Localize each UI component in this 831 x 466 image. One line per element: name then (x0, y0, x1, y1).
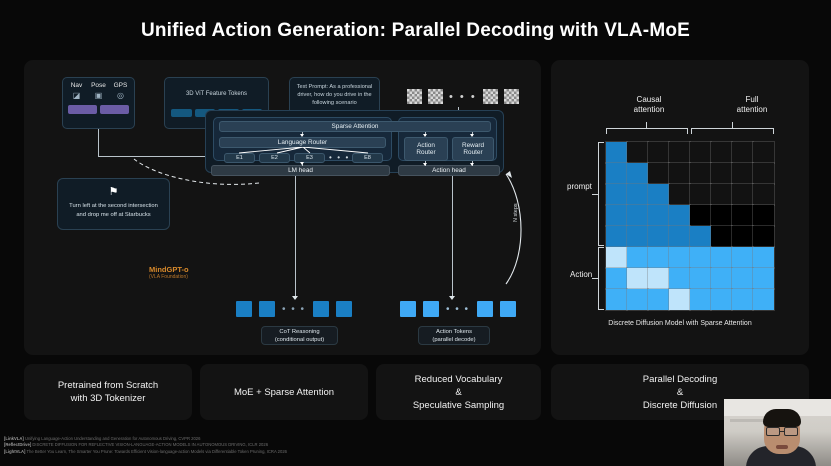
attention-cell-r2-c6 (711, 163, 732, 184)
footer-1-line2: with 3D Tokenizer (58, 392, 158, 405)
attention-cell-r1-c8 (753, 142, 774, 163)
footer-1-line1: Pretrained from Scratch (58, 379, 158, 392)
action-token-row: • • • (400, 301, 516, 317)
prompt-brace-tick (592, 194, 598, 195)
attention-cell-r1-c4 (669, 142, 690, 163)
text-prompt-caption: Text Prompt: As a professional driver, h… (290, 78, 379, 107)
causal-attention-label: Causal attention (604, 95, 694, 115)
attention-cell-r7-c8 (753, 268, 774, 289)
attention-cell-r8-c1 (606, 289, 627, 310)
attention-cell-r6-c6 (711, 247, 732, 268)
cot-subtitle: (conditional output) (275, 336, 324, 344)
full-line1: Full (716, 95, 788, 105)
page-title: Unified Action Generation: Parallel Deco… (0, 20, 831, 42)
attention-cell-r3-c6 (711, 184, 732, 205)
arrow-head (470, 134, 474, 137)
attention-cell-r8-c5 (690, 289, 711, 310)
citation-tag: [LightVLA] (4, 449, 25, 454)
attention-cell-r6-c4 (669, 247, 690, 268)
causal-brace-tick (646, 122, 647, 128)
attention-cell-r5-c1 (606, 226, 627, 247)
footer-card-3: Reduced Vocabulary & Speculative Samplin… (376, 364, 541, 420)
attention-cell-r2-c7 (732, 163, 753, 184)
citation-list: [LinkVLA] Unifying Language-Action Under… (4, 436, 287, 455)
attention-cell-r4-c7 (732, 205, 753, 226)
attention-cell-r2-c1 (606, 163, 627, 184)
attention-cell-r3-c8 (753, 184, 774, 205)
connector-acthead-out (452, 176, 453, 298)
arrow-head (470, 163, 474, 166)
n-steps-label: N steps (513, 203, 519, 222)
attention-cell-r6-c3 (648, 247, 669, 268)
gps-icon: ◎ (110, 90, 131, 102)
attention-cell-r5-c6 (711, 226, 732, 247)
citation-item: [LightVLA] The Better You Learn, The Sma… (4, 449, 287, 455)
mask-token-square (483, 89, 498, 104)
causal-brace (606, 128, 688, 134)
action-token (423, 301, 439, 317)
mask-token-square (428, 89, 443, 104)
attention-cell-r8-c3 (648, 289, 669, 310)
nav-grid: Nav Pose GPS ◪ ▣ ◎ (63, 78, 134, 102)
attention-cell-r1-c3 (648, 142, 669, 163)
nav-label: Nav (66, 82, 87, 89)
action-row-label: Action (570, 270, 592, 279)
action-router-box: Action Router (404, 137, 448, 161)
attention-cell-r8-c2 (627, 289, 648, 310)
action-ellipsis: • • • (446, 304, 470, 315)
citation-text: The Better You Learn, The Smarter You Pr… (27, 449, 287, 454)
mask-token-ellipsis: • • • (449, 91, 477, 103)
attention-cell-r1-c6 (711, 142, 732, 163)
arrow-head (423, 163, 427, 166)
attention-cell-r5-c2 (627, 226, 648, 247)
n-steps-loop-arrow (500, 168, 530, 290)
nav-token-bars (63, 102, 134, 114)
citation-text: DISCRETE DIFFUSION FOR REFLECTIVE VISION… (32, 442, 268, 447)
attention-cell-r7-c7 (732, 268, 753, 289)
action-brace (598, 247, 604, 310)
cot-token (259, 301, 275, 317)
causal-line1: Causal (604, 95, 694, 105)
footer-3-line1: Reduced Vocabulary (413, 373, 504, 386)
attention-cell-r3-c3 (648, 184, 669, 205)
attention-cell-r6-c7 (732, 247, 753, 268)
action-tokens-label: Action Tokens (parallel decode) (418, 326, 490, 345)
cot-token (236, 301, 252, 317)
attention-cell-r6-c2 (627, 247, 648, 268)
attention-cell-r5-c8 (753, 226, 774, 247)
footer-4-line2: & (643, 386, 717, 399)
route-flag-icon: ⚑ (58, 179, 169, 201)
nav-arrow-icon: ◪ (66, 90, 87, 102)
mindgpt-label: MindGPT-o (VLA Foundation) (149, 265, 189, 280)
gps-label: GPS (110, 82, 131, 89)
attention-cell-r7-c1 (606, 268, 627, 289)
full-attention-label: Full attention (716, 95, 788, 115)
attention-cell-r1-c5 (690, 142, 711, 163)
footer-2-line1: MoE + Sparse Attention (234, 386, 334, 399)
arrow-head (292, 296, 298, 300)
presenter-glasses-right (784, 427, 798, 436)
attention-cell-r3-c1 (606, 184, 627, 205)
action-token (400, 301, 416, 317)
lm-head-bar: LM head (211, 165, 390, 176)
attention-cell-r8-c7 (732, 289, 753, 310)
presenter-glasses-left (766, 427, 780, 436)
attention-cell-r2-c5 (690, 163, 711, 184)
action-router-line2: Router (416, 149, 435, 157)
attention-cell-r3-c4 (669, 184, 690, 205)
attention-cell-r5-c7 (732, 226, 753, 247)
arrow-head (449, 296, 455, 300)
cot-reasoning-label: CoT Reasoning (conditional output) (261, 326, 338, 345)
full-line2: attention (716, 105, 788, 115)
vit-caption: 3D ViT Feature Tokens (165, 78, 268, 97)
action-head-bar: Action head (398, 165, 500, 176)
attention-cell-r4-c2 (627, 205, 648, 226)
footer-card-1: Pretrained from Scratch with 3D Tokenize… (24, 364, 192, 420)
reward-router-line1: Reward (462, 142, 484, 150)
action-token (500, 301, 516, 317)
presenter-webcam[interactable] (724, 399, 831, 466)
instruction-callout: ⚑ Turn left at the second intersection a… (57, 178, 170, 230)
attention-cell-r4-c3 (648, 205, 669, 226)
mask-token-square (504, 89, 519, 104)
attention-cell-r2-c8 (753, 163, 774, 184)
arrow-head (300, 134, 304, 137)
attention-cell-r5-c5 (690, 226, 711, 247)
presenter-hair (763, 409, 801, 427)
citation-text: Unifying Language-Action Understanding a… (25, 436, 201, 441)
attention-cell-r2-c3 (648, 163, 669, 184)
reward-router-line2: Router (463, 149, 482, 157)
action-title: Action Tokens (436, 328, 472, 336)
action-token (477, 301, 493, 317)
attention-cell-r5-c4 (669, 226, 690, 247)
attention-cell-r5-c3 (648, 226, 669, 247)
attention-cell-r7-c4 (669, 268, 690, 289)
attention-cell-r4-c5 (690, 205, 711, 226)
citation-tag: [LinkVLA] (4, 436, 24, 441)
attention-cell-r1-c1 (606, 142, 627, 163)
full-brace (691, 128, 774, 134)
attention-cell-r8-c8 (753, 289, 774, 310)
nav-pose-gps-card: Nav Pose GPS ◪ ▣ ◎ (62, 77, 135, 129)
attention-cell-r6-c5 (690, 247, 711, 268)
footer-4-line1: Parallel Decoding (643, 373, 717, 386)
pose-label: Pose (88, 82, 109, 89)
attention-cell-r3-c2 (627, 184, 648, 205)
footer-3-line2: & (413, 386, 504, 399)
instruction-text: Turn left at the second intersection and… (58, 201, 169, 219)
attention-cell-r3-c7 (732, 184, 753, 205)
cot-ellipsis: • • • (282, 304, 306, 315)
mask-token-row: • • • (407, 89, 519, 104)
cot-token-row: • • • (236, 301, 352, 317)
attention-cell-r1-c7 (732, 142, 753, 163)
pose-icon: ▣ (88, 90, 109, 102)
prompt-row-label: prompt (567, 182, 592, 191)
attention-cell-r2-c2 (627, 163, 648, 184)
attention-cell-r8-c6 (711, 289, 732, 310)
footer-3-line3: Speculative Sampling (413, 399, 504, 412)
attention-cell-r7-c2 (627, 268, 648, 289)
attention-cell-r7-c5 (690, 268, 711, 289)
arrow-head (300, 162, 304, 165)
presenter-mouth (776, 445, 788, 449)
arrow-head (423, 134, 427, 137)
attention-cell-r4-c6 (711, 205, 732, 226)
presenter-glasses-bridge (780, 431, 784, 432)
footer-4-line3: Discrete Diffusion (643, 399, 717, 412)
matrix-caption: Discrete Diffusion Model with Sparse Att… (551, 320, 809, 327)
mask-token-square (407, 89, 422, 104)
cot-token (313, 301, 329, 317)
mindgpt-subtitle: (VLA Foundation) (149, 274, 189, 280)
attention-cell-r4-c1 (606, 205, 627, 226)
attention-cell-r6-c8 (753, 247, 774, 268)
attention-cell-r7-c3 (648, 268, 669, 289)
prompt-brace (598, 142, 604, 246)
causal-line2: attention (604, 105, 694, 115)
action-router-line1: Action (417, 142, 435, 150)
attention-cell-r6-c1 (606, 247, 627, 268)
connector-nav (98, 129, 99, 157)
reward-router-box: Reward Router (452, 137, 494, 161)
attention-cell-r4-c4 (669, 205, 690, 226)
attention-cell-r4-c8 (753, 205, 774, 226)
footer-card-2: MoE + Sparse Attention (200, 364, 368, 420)
mindgpt-name: MindGPT-o (149, 265, 189, 274)
attention-matrix-wrap (606, 142, 774, 310)
attention-matrix (606, 142, 774, 310)
attention-cell-r7-c6 (711, 268, 732, 289)
attention-cell-r2-c4 (669, 163, 690, 184)
connector-lmhead-out (295, 176, 296, 298)
attention-cell-r3-c5 (690, 184, 711, 205)
full-brace-tick (732, 122, 733, 128)
slide-root: Unified Action Generation: Parallel Deco… (0, 0, 831, 466)
cot-token (336, 301, 352, 317)
router-to-experts-fan (215, 147, 385, 155)
citation-tag: [ReflectDrive] (4, 442, 31, 447)
action-brace-tick (592, 278, 598, 279)
sparse-attention-bar: Sparse Attention (219, 121, 491, 132)
attention-cell-r8-c4 (669, 289, 690, 310)
cot-title: CoT Reasoning (279, 328, 319, 336)
attention-cell-r1-c2 (627, 142, 648, 163)
action-subtitle: (parallel decode) (432, 336, 475, 344)
